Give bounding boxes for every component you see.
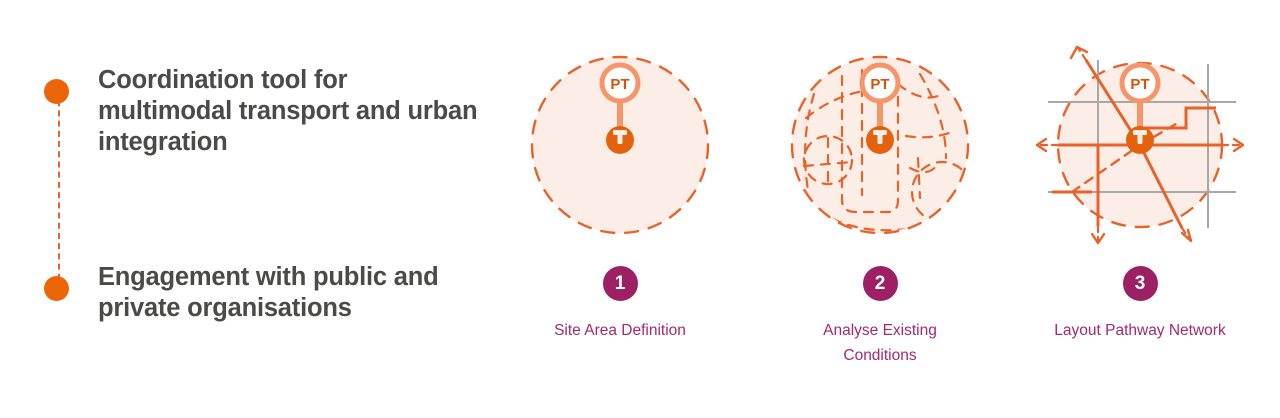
step-caption-3: Layout Pathway Network bbox=[1054, 318, 1225, 343]
key-points-panel: Coordination tool for multimodal transpo… bbox=[44, 60, 474, 380]
infographic-canvas: Coordination tool for multimodal transpo… bbox=[0, 0, 1280, 418]
bullet-dot-icon bbox=[44, 276, 69, 301]
existing-conditions-circle-illustration: PT bbox=[770, 40, 990, 250]
key-point-item-1: Coordination tool for multimodal transpo… bbox=[44, 79, 488, 158]
process-step-1: PT 1 Site Area Definition bbox=[490, 40, 750, 343]
key-point-item-2: Engagement with public and private organ… bbox=[44, 276, 488, 324]
marker-hub-post bbox=[618, 130, 623, 144]
process-step-2: PT 2 Analyse Existing Conditions bbox=[750, 40, 1010, 368]
site-area-circle-illustration: PT bbox=[510, 40, 730, 250]
key-point-label-2: Engagement with public and private organ… bbox=[98, 262, 488, 324]
process-steps: PT 1 Site Area Definition bbox=[490, 40, 1270, 380]
step-number-badge-1: 1 bbox=[603, 266, 638, 301]
pt-badge-label: PT bbox=[610, 76, 629, 93]
pt-badge-label: PT bbox=[870, 76, 889, 93]
step-number-badge-3: 3 bbox=[1123, 266, 1158, 301]
key-point-label-1: Coordination tool for multimodal transpo… bbox=[98, 65, 488, 158]
pathway-network-circle-illustration: PT bbox=[1030, 40, 1250, 250]
step-caption-2: Analyse Existing Conditions bbox=[785, 318, 975, 368]
step-caption-1: Site Area Definition bbox=[554, 318, 686, 343]
process-step-3: PT 3 Layout Pathway Network bbox=[1010, 40, 1270, 343]
step-number-badge-2: 2 bbox=[863, 266, 898, 301]
bullet-dot-icon bbox=[44, 79, 69, 104]
marker-hub-post bbox=[1138, 130, 1143, 144]
marker-hub-post bbox=[878, 130, 883, 144]
pt-badge-label: PT bbox=[1130, 76, 1149, 93]
